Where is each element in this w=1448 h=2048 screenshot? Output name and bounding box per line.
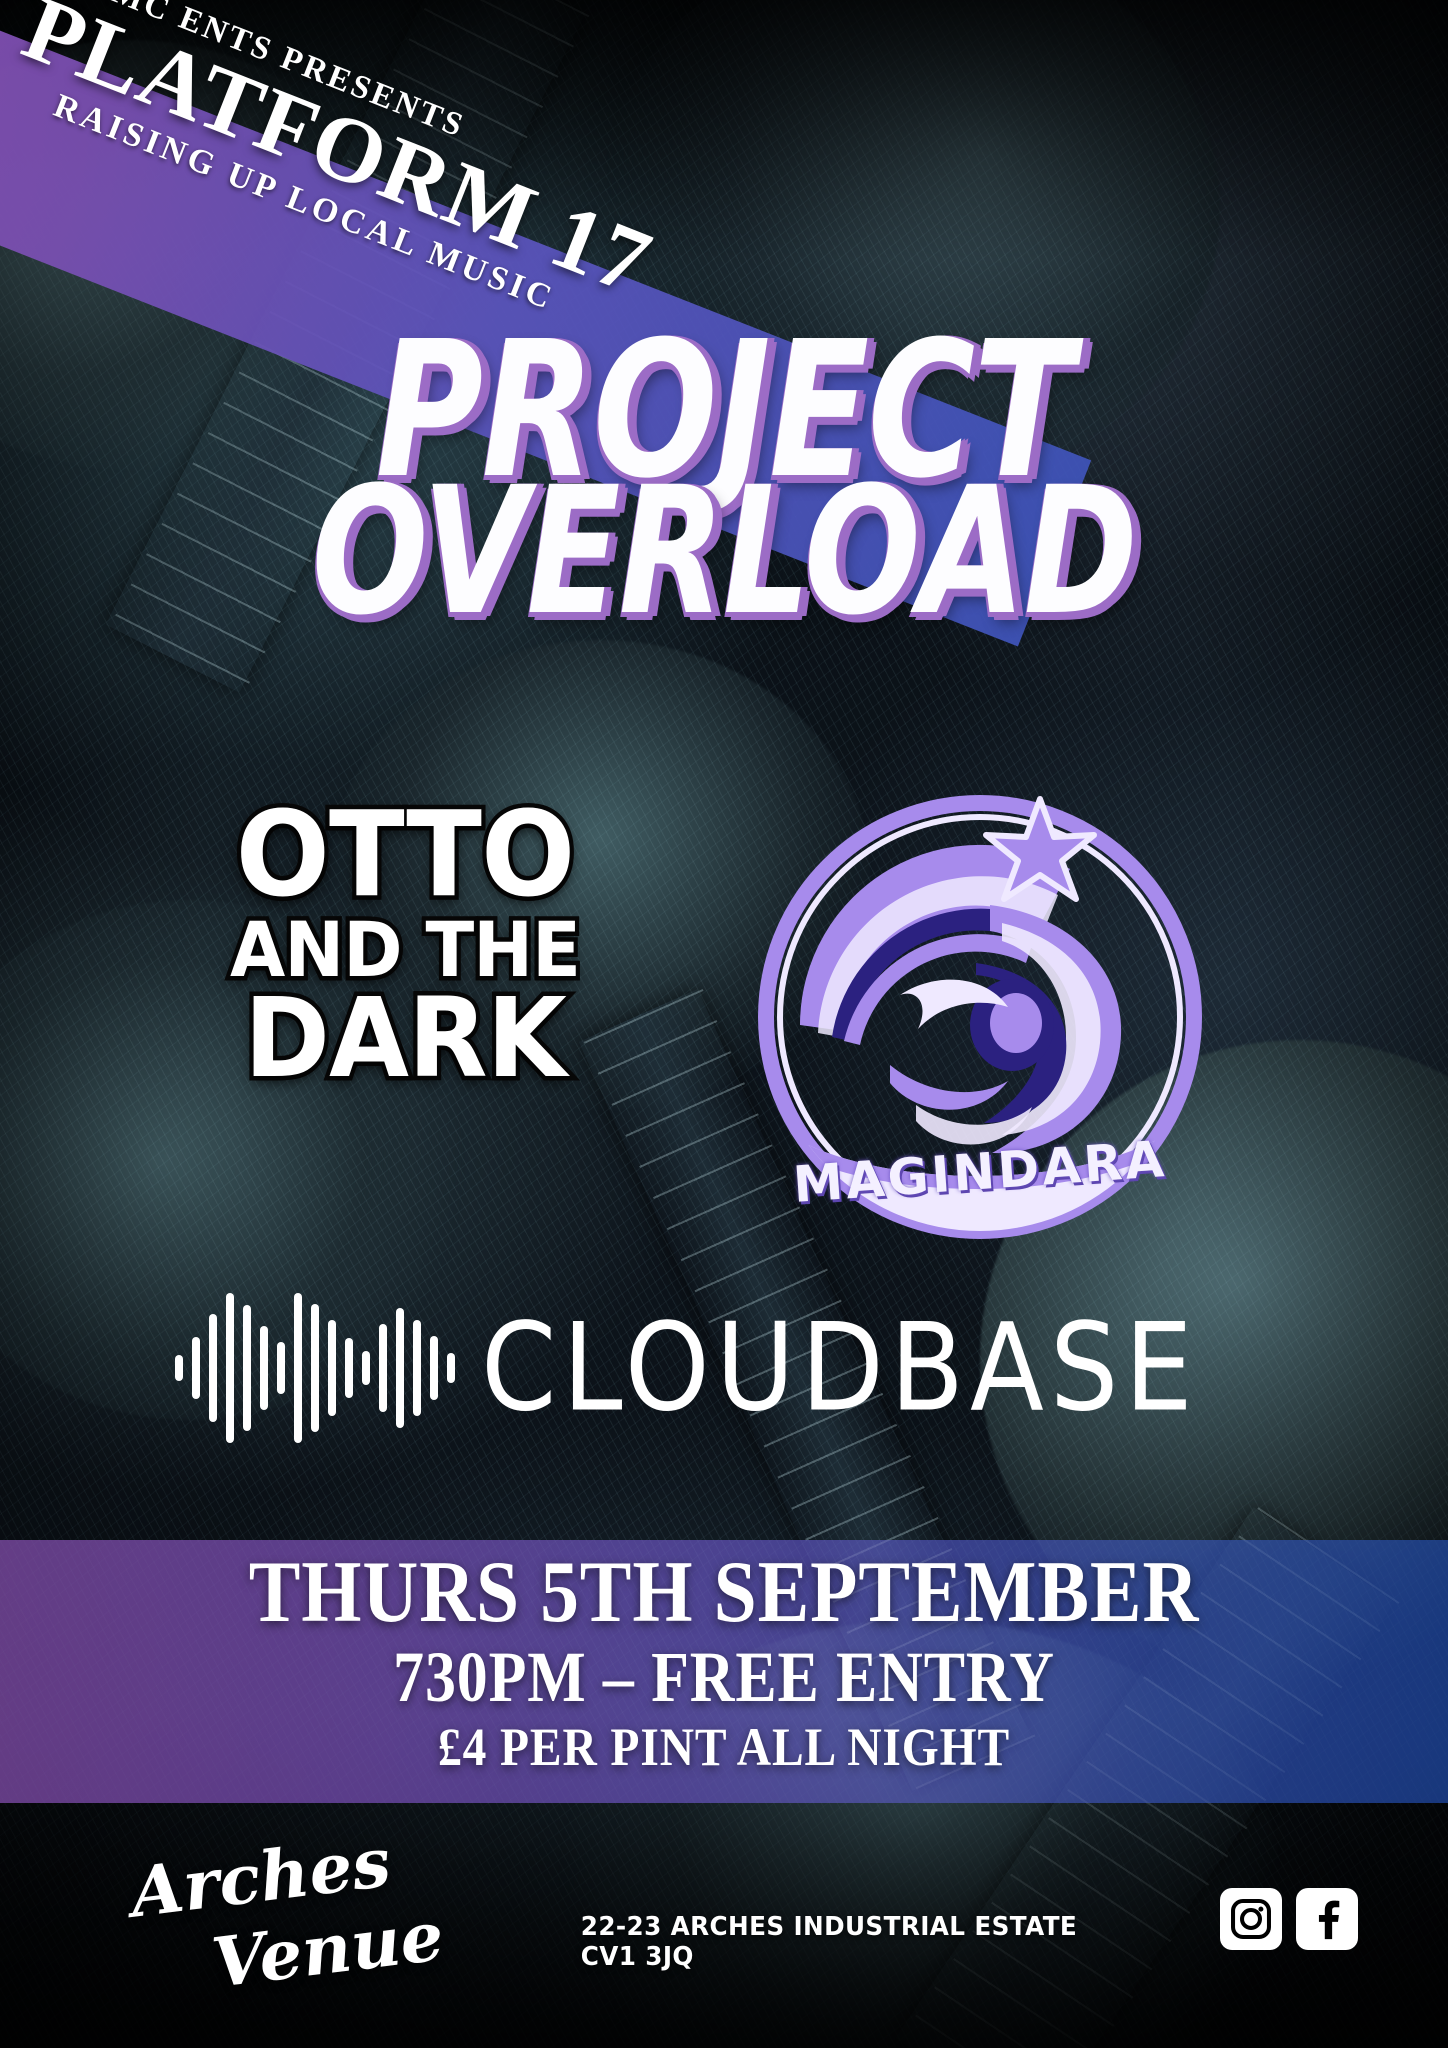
event-details: THURS 5TH SEPTEMBER 730PM – FREE ENTRY £…: [0, 1548, 1448, 1776]
waveform-bar: [209, 1314, 217, 1422]
headline-act: PROJECT OVERLOAD: [0, 330, 1448, 627]
poster-footer: Arches Venue 22-23 ARCHES INDUSTRIAL EST…: [0, 1832, 1448, 2048]
waveform-bar: [328, 1320, 336, 1416]
waveform-bar: [396, 1308, 404, 1428]
waveform-bar: [294, 1293, 302, 1443]
instagram-link[interactable]: [1220, 1888, 1282, 1950]
facebook-icon: [1305, 1897, 1349, 1941]
waveform-bar: [192, 1337, 200, 1399]
social-links: [1220, 1888, 1358, 1950]
event-date: THURS 5TH SEPTEMBER: [87, 1548, 1361, 1638]
venue-address: 22-23 ARCHES INDUSTRIAL ESTATE CV1 3JQ: [581, 1912, 1142, 1972]
headline-line-2: OVERLOAD: [159, 476, 1288, 627]
cloudbase-wordmark: CLOUDBASE: [481, 1298, 1199, 1438]
gig-poster: MC ENTS PRESENTS PLATFORM 17 RAISING UP …: [0, 0, 1448, 2048]
waveform-bar: [447, 1353, 455, 1383]
event-drinks-offer: £4 PER PINT ALL NIGHT: [87, 1719, 1361, 1776]
waveform-bar: [345, 1338, 353, 1398]
otto-line-3: DARK: [184, 988, 626, 1089]
waveform-bar: [413, 1320, 421, 1416]
waveform-bar: [260, 1326, 268, 1410]
waveform-bar: [175, 1355, 183, 1381]
act-cloudbase: CLOUDBASE: [175, 1288, 1295, 1448]
waveform-bar: [277, 1342, 285, 1394]
waveform-bar: [379, 1324, 387, 1412]
instagram-icon: [1229, 1897, 1273, 1941]
facebook-link[interactable]: [1296, 1888, 1358, 1950]
waveform-bar: [311, 1304, 319, 1432]
otto-line-1: OTTO: [184, 800, 626, 909]
waveform-bar: [362, 1351, 370, 1385]
act-otto-and-the-dark: OTTO AND THE DARK: [170, 800, 640, 1090]
waveform-bar: [226, 1293, 234, 1443]
venue-logo: Arches Venue: [120, 1838, 520, 1990]
waveform-bar: [243, 1305, 251, 1431]
event-time-entry: 730PM – FREE ENTRY: [101, 1640, 1346, 1716]
act-magindara-logo: MAGINDARA: [740, 775, 1220, 1255]
waveform-icon: [175, 1288, 455, 1448]
waveform-bar: [430, 1336, 438, 1400]
